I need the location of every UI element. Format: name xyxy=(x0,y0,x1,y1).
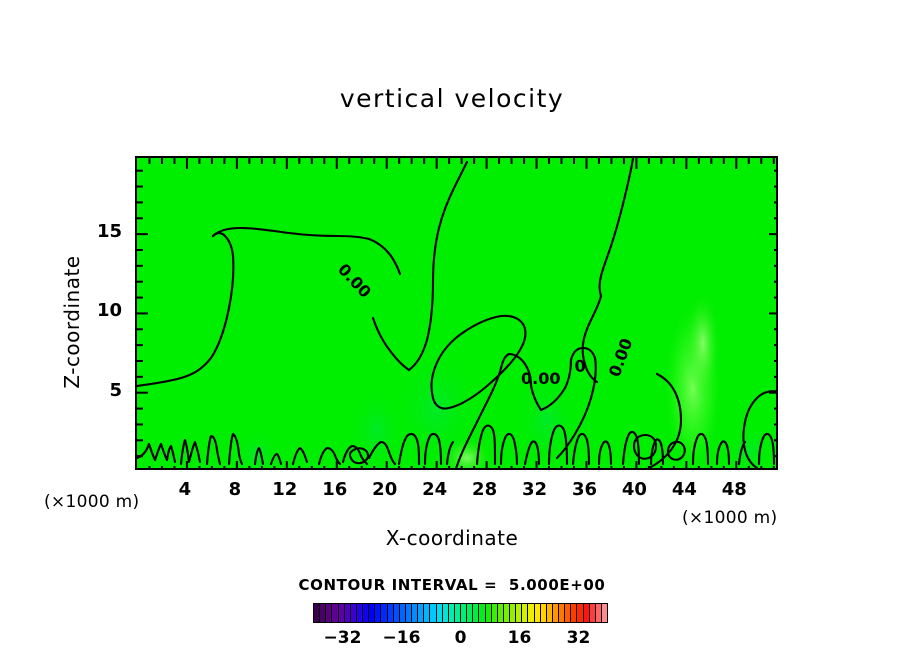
y-axis-unit-label: (×1000 m) xyxy=(44,492,139,512)
colorbar-tick-label: 32 xyxy=(554,628,604,648)
colorbar-tick-label: 16 xyxy=(495,628,545,648)
contour-label: 0.00 xyxy=(521,369,560,388)
contour-field: 0.00 0.00 0 0.00 xyxy=(137,158,778,470)
x-tick-label: 48 xyxy=(714,479,754,500)
chart-title: vertical velocity xyxy=(0,84,904,113)
x-tick-label: 16 xyxy=(315,479,355,500)
x-tick-label: 4 xyxy=(165,479,205,500)
x-tick-label: 28 xyxy=(465,479,505,500)
contour-label: 0 xyxy=(574,356,586,376)
y-tick-label: 5 xyxy=(88,380,122,401)
y-axis-title: Z-coordinate xyxy=(60,212,84,432)
x-tick-label: 44 xyxy=(664,479,704,500)
x-tick-label: 20 xyxy=(365,479,405,500)
x-tick-label: 12 xyxy=(265,479,305,500)
chart-canvas: vertical velocity Z-coordinate X-coordin… xyxy=(0,0,904,654)
colorbar-tick-label: −32 xyxy=(318,628,368,648)
colorbar-band xyxy=(602,604,607,622)
y-tick-label: 15 xyxy=(88,221,122,242)
x-axis-title: X-coordinate xyxy=(0,526,904,550)
colorbar xyxy=(313,603,608,623)
colorbar-tick-label: 0 xyxy=(436,628,486,648)
x-tick-label: 8 xyxy=(215,479,255,500)
x-tick-label: 36 xyxy=(564,479,604,500)
colorbar-tick-label: −16 xyxy=(377,628,427,648)
x-axis-unit-label: (×1000 m) xyxy=(682,508,777,528)
x-tick-label: 40 xyxy=(614,479,654,500)
x-tick-label: 32 xyxy=(515,479,555,500)
contour-interval-caption: CONTOUR INTERVAL = 5.000E+00 xyxy=(0,576,904,594)
y-tick-label: 10 xyxy=(88,300,122,321)
contour-plot-area: 0.00 0.00 0 0.00 xyxy=(135,156,778,470)
x-tick-label: 24 xyxy=(415,479,455,500)
